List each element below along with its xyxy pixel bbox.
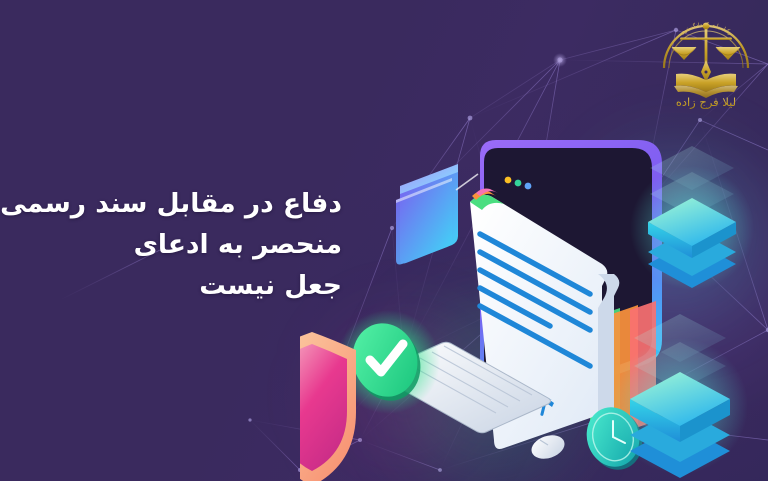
title-line-3: جعل نیست	[40, 265, 342, 306]
title-line-1: دفاع در مقابل سند رسمی	[40, 183, 342, 224]
title-line-2: منحصر به ادعای	[40, 224, 342, 265]
brand-logo[interactable]: وکیل پایه یک دادگستری	[650, 2, 762, 114]
isometric-illustration	[300, 88, 768, 481]
protection-shield	[300, 332, 356, 481]
logo-brand-name: لیلا فرج زاده	[676, 95, 736, 110]
hero-banner: دفاع در مقابل سند رسمی منحصر به ادعای جع…	[0, 0, 768, 481]
folder-connector-line	[456, 174, 478, 190]
folder-icon	[396, 164, 458, 265]
page-title: دفاع در مقابل سند رسمی منحصر به ادعای جع…	[40, 183, 342, 306]
